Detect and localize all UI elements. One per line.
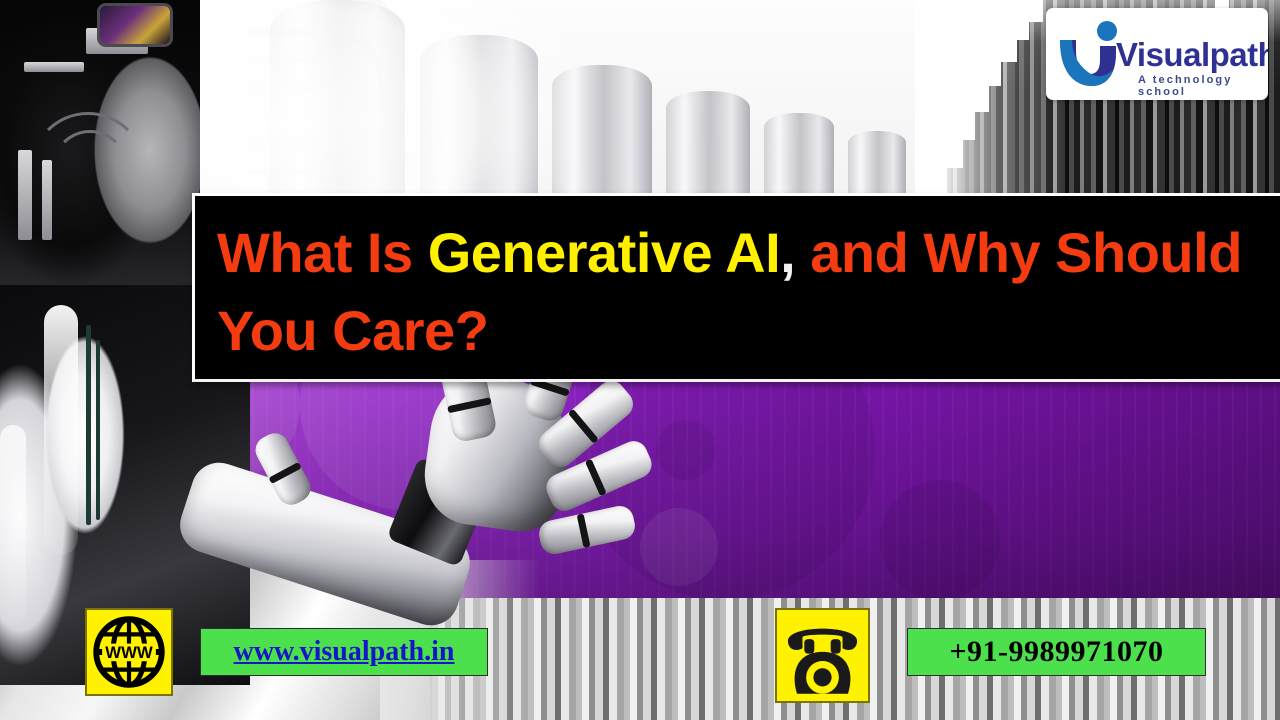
phone-badge[interactable]: +91-9989971070 bbox=[907, 628, 1206, 676]
logo-brand-text: Visualpath bbox=[1116, 36, 1268, 74]
page-title: What Is Generative AI, and Why Should Yo… bbox=[217, 214, 1280, 370]
title-segment-comma: , bbox=[780, 221, 795, 284]
headline-panel: What Is Generative AI, and Why Should Yo… bbox=[192, 193, 1280, 382]
globe-icon-svg: WWW bbox=[87, 610, 171, 694]
website-url-text[interactable]: www.visualpath.in bbox=[234, 636, 455, 668]
robot-head-graphic bbox=[0, 0, 200, 300]
visualpath-logo[interactable]: Visualpath A technology school bbox=[1046, 8, 1268, 100]
website-badge[interactable]: www.visualpath.in bbox=[200, 628, 488, 676]
promotional-banner: What Is Generative AI, and Why Should Yo… bbox=[0, 0, 1280, 720]
logo-tagline-text: A technology school bbox=[1138, 74, 1268, 98]
title-segment-1: What Is bbox=[217, 221, 428, 284]
telephone-icon bbox=[775, 608, 870, 703]
globe-www-label: WWW bbox=[105, 643, 153, 662]
globe-www-icon: WWW bbox=[85, 608, 173, 696]
phone-number-text[interactable]: +91-9989971070 bbox=[949, 635, 1163, 669]
telephone-icon-svg bbox=[777, 610, 868, 701]
robotic-hand-graphic bbox=[250, 370, 720, 660]
title-segment-highlight: Generative AI bbox=[428, 221, 780, 284]
